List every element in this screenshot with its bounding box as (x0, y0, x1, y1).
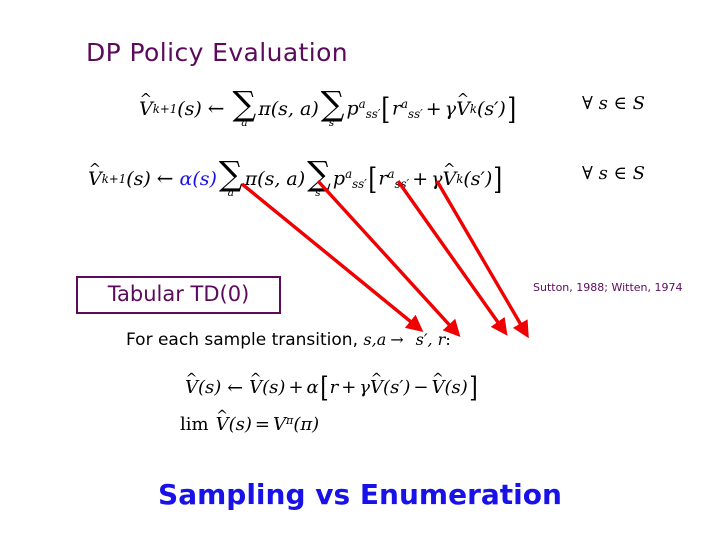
eq2-sum1-index: a (228, 188, 234, 199)
sigma-icon: ∑ (307, 160, 331, 187)
annotation-arrow-layer (0, 0, 720, 540)
transition-from: s,a (363, 330, 386, 349)
sigma-icon: ∑ (233, 90, 257, 117)
eq1-value-arg: (s′) (477, 100, 506, 119)
transition-arrow-icon: → (386, 330, 407, 349)
eq2-summation-a: ∑ a (219, 160, 243, 199)
dp-equation-2-quantifier: ∀ s ∈ S (582, 165, 645, 183)
tdu-plus-2: + (338, 379, 359, 397)
hat-icon: ^ (186, 372, 198, 386)
transition-line: For each sample transition, s,a→s′, r: (126, 330, 451, 350)
eq1-gamma: γ (445, 100, 456, 119)
eq1-summation-a: ∑ a (233, 90, 257, 129)
tdu-next-value: ^V (370, 379, 383, 397)
tdl-value: ^V (216, 416, 229, 434)
tdu-alpha: α (307, 379, 319, 397)
eq1-reward-term: rass′ (392, 99, 423, 121)
eq1-lhs-arg: (s) (177, 100, 202, 119)
eq1-reward-superscript: a (401, 97, 408, 111)
tdu-lhs-value: ^V (185, 379, 198, 397)
tdu-minus: − (410, 379, 431, 397)
eq2-value-subscript: k (456, 174, 463, 186)
sigma-icon: ∑ (219, 160, 243, 187)
tdl-value-arg: (s) (229, 416, 252, 434)
tdu-next-arg: (s′) (383, 379, 410, 397)
tabular-td-box: Tabular TD(0) (76, 276, 281, 314)
eq1-value-subscript: k (470, 104, 477, 116)
arrow-r-to-reward (437, 181, 524, 330)
dp-equation-1-quantifier: ∀ s ∈ S (582, 95, 645, 113)
tdl-equals: = (252, 416, 273, 434)
tdl-target-symbol: V (273, 414, 286, 435)
eq2-lhs-subscript: k+1 (102, 174, 126, 186)
tdl-target-arg: (π) (293, 416, 319, 434)
eq2-alpha-term: α(s) (180, 170, 217, 189)
tdl-target: Vπ (273, 415, 293, 434)
arrow-sum-s-to-sprime (398, 181, 502, 328)
bottom-heading: Sampling vs Enumeration (0, 478, 720, 511)
eq2-transition-prob: pass′ (333, 169, 367, 191)
eq2-bracket-open: [ (368, 169, 377, 190)
tdu-plus-1: + (285, 379, 306, 397)
transition-to: s′, r (408, 330, 446, 349)
eq2-reward-term: rass′ (378, 169, 409, 191)
page-title: DP Policy Evaluation (86, 38, 348, 67)
hat-icon: ^ (457, 93, 469, 108)
hat-icon: ^ (443, 163, 455, 178)
eq1-sum1-index: a (241, 118, 247, 129)
arrow-sum-a-to-arrow (318, 181, 454, 330)
hat-icon: ^ (140, 93, 152, 108)
eq2-value-arg: (s′) (463, 170, 492, 189)
sigma-icon: ∑ (321, 90, 345, 117)
eq1-sum2-index: s′ (329, 118, 337, 129)
tdu-lhs-arg: (s) (198, 379, 221, 397)
tdu-rhs-arg: (s) (262, 379, 285, 397)
eq2-policy-term: π(s, a) (245, 170, 305, 189)
tdu-gamma: γ (359, 379, 370, 397)
eq1-lhs-value: ^V (139, 100, 153, 119)
hat-icon: ^ (216, 409, 228, 423)
eq2-gamma: γ (431, 170, 442, 189)
hat-icon: ^ (89, 163, 101, 178)
eq2-bracket-close: ] (494, 169, 503, 190)
eq1-plus: + (423, 100, 445, 119)
eq1-bracket-open: [ (382, 99, 391, 120)
tabular-td-label: Tabular TD(0) (78, 282, 279, 306)
tdu-cur-arg: (s) (445, 379, 468, 397)
eq1-bracket-close: ] (507, 99, 516, 120)
eq1-reward-symbol: r (392, 97, 401, 119)
transition-colon: : (445, 330, 450, 349)
eq1-value-next: ^V (456, 100, 470, 119)
td-update-equation: ^V(s) ← ^V(s) + α [ r + γ ^V(s′) − ^V(s)… (185, 378, 479, 398)
slide-canvas: DP Policy Evaluation ^Vk+1(s) ← ∑ a π(s,… (0, 0, 720, 540)
tdu-cur-value: ^V (432, 379, 445, 397)
dp-equation-1: ^Vk+1(s) ← ∑ a π(s, a) ∑ s′ pass′ [ rass… (139, 90, 517, 129)
eq2-plus: + (409, 170, 431, 189)
eq1-assign-arrow: ← (202, 99, 231, 119)
eq1-policy-term: π(s, a) (258, 100, 318, 119)
hat-icon: ^ (432, 372, 444, 386)
tdu-bracket-open: [ (320, 378, 328, 398)
eq1-prob-subscript: ss′ (366, 107, 381, 121)
eq2-lhs-arg: (s) (126, 170, 151, 189)
eq2-lhs-value: ^V (88, 170, 102, 189)
tdl-lim-operator: lim (180, 416, 209, 434)
eq2-sum2-index: s′ (315, 188, 323, 199)
tdu-reward: r (330, 379, 339, 397)
tdu-rhs-value: ^V (249, 379, 262, 397)
eq2-value-next: ^V (442, 170, 456, 189)
eq1-prob-symbol: p (347, 97, 359, 119)
eq1-summation-sprime: ∑ s′ (321, 90, 345, 129)
tdl-target-superscript: π (286, 414, 293, 427)
dp-equation-2: ^Vk+1(s) ← α(s) ∑ a π(s, a) ∑ s′ pass′ [… (88, 160, 504, 199)
eq1-reward-subscript: ss′ (408, 107, 423, 121)
eq2-summation-sprime: ∑ s′ (307, 160, 331, 199)
eq2-assign-arrow: ← (151, 169, 180, 189)
eq2-reward-subscript: ss′ (394, 177, 409, 191)
eq2-prob-subscript: ss′ (352, 177, 367, 191)
eq1-lhs-subscript: k+1 (153, 104, 177, 116)
hat-icon: ^ (250, 372, 262, 386)
citation-text: Sutton, 1988; Witten, 1974 (533, 281, 683, 294)
eq2-prob-symbol: p (333, 167, 345, 189)
tdu-assign-arrow: ← (221, 379, 249, 398)
td-limit-equation: lim ^V(s) = Vπ(π) (180, 415, 319, 434)
eq1-transition-prob: pass′ (347, 99, 381, 121)
eq1-prob-superscript: a (359, 97, 366, 111)
transition-prefix: For each sample transition, (126, 330, 363, 350)
hat-icon: ^ (371, 372, 383, 386)
tdu-bracket-close: ] (469, 378, 477, 398)
